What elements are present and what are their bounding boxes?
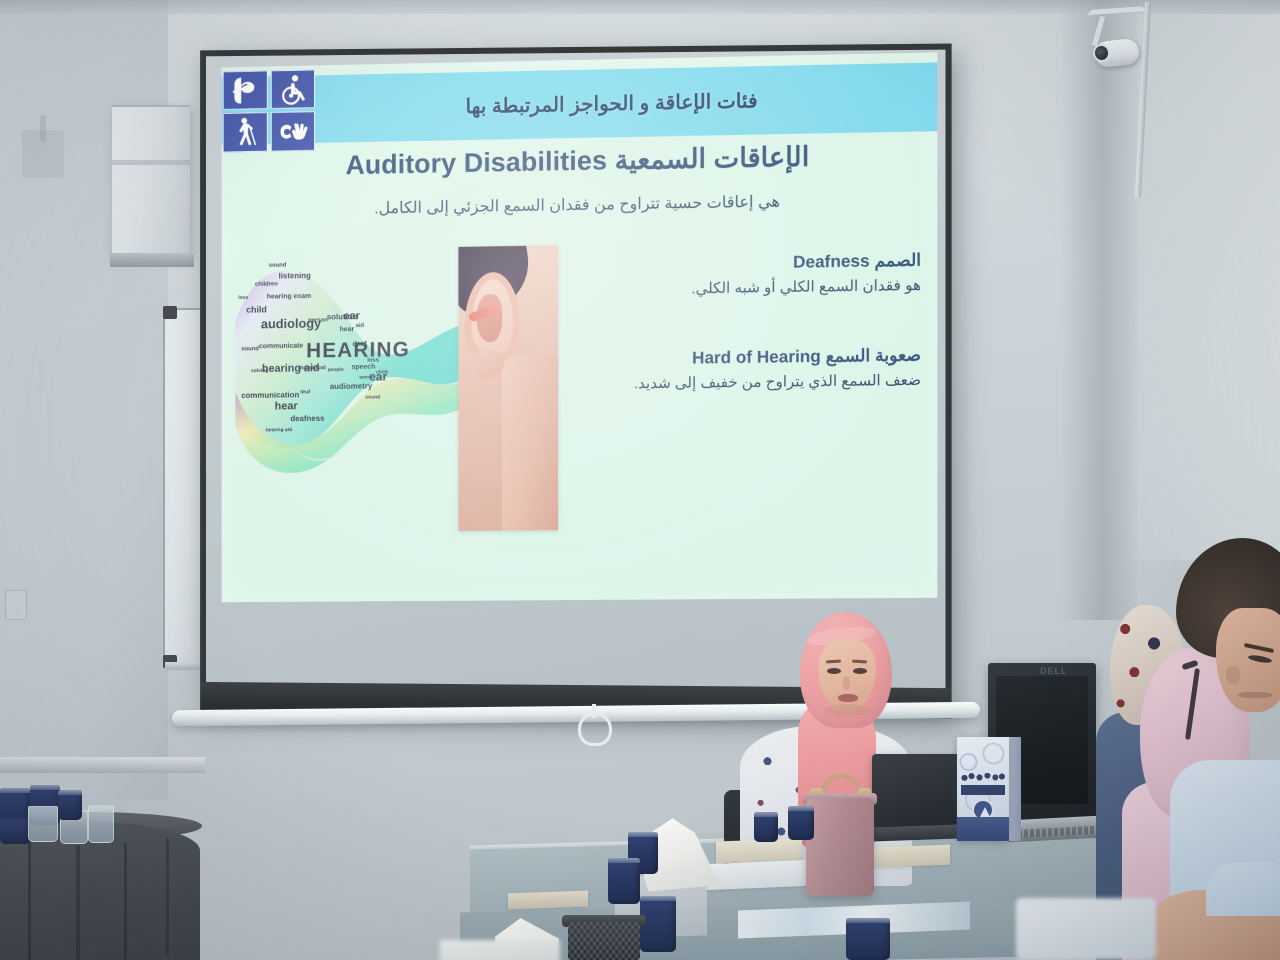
svg-text:aid: aid [355, 323, 364, 329]
svg-text:child: child [246, 304, 267, 314]
mesh-pen-holder [568, 922, 640, 960]
tablecloth-fold [166, 838, 169, 956]
svg-text:people: people [328, 367, 344, 373]
svg-text:listening: listening [279, 271, 311, 280]
term-english-label: Deafness [793, 251, 870, 271]
svg-text:solving: solving [251, 368, 268, 374]
attendee-4-sleeve [1206, 862, 1280, 916]
svg-text:sound: sound [241, 346, 259, 352]
foreground-paper-blur [440, 940, 560, 960]
cup-rim [640, 896, 676, 901]
svg-text:individual: individual [298, 365, 326, 371]
whiteboard [163, 308, 205, 666]
svg-text:deafness: deafness [290, 414, 325, 423]
wheelchair-accessibility-icon [270, 69, 315, 109]
neck [502, 355, 558, 530]
svg-text:sound: sound [365, 394, 380, 400]
hearing-word-cloud: HEARING audiology hearing aid ear ear li… [230, 248, 477, 500]
term-hard-of-hearing: صعوبة السمع Hard of Hearing ضعف السمع ال… [578, 345, 921, 392]
earlobe [474, 350, 504, 378]
svg-text:speech: speech [352, 364, 376, 371]
term-deafness: الصمم Deafness هو فقدان السمع الكلي أو ش… [588, 251, 921, 299]
nose [843, 676, 850, 690]
cup-rim [0, 788, 30, 793]
tablecloth-fold [76, 845, 80, 960]
baseboard [0, 757, 205, 773]
term-arabic-label: الصمم [874, 251, 921, 271]
laptop[interactable] [872, 754, 964, 830]
svg-text:child: child [376, 369, 388, 375]
pink-handbag [806, 798, 874, 896]
mouth [1238, 692, 1272, 698]
sign-language-icon [270, 112, 315, 152]
screen-pull-handle [578, 712, 612, 746]
term-label-row: الصمم Deafness [588, 251, 921, 276]
drinking-glass [28, 806, 58, 842]
svg-text:communication: communication [241, 390, 299, 400]
drinking-glass [88, 805, 114, 843]
svg-text:deaf: deaf [352, 341, 367, 348]
housing-shelf [110, 253, 194, 267]
housing-seam [112, 160, 190, 165]
cup-rim [58, 790, 82, 795]
paper-stack [508, 891, 588, 910]
wall-outlet [5, 590, 27, 620]
term-label-row: صعوبة السمع Hard of Hearing [578, 345, 921, 369]
svg-text:solution: solution [327, 312, 358, 321]
term-english-label: Hard of Hearing [692, 347, 821, 368]
cup-rim [608, 858, 640, 863]
monitor-brand-label: DELL [1040, 666, 1068, 676]
term-description: ضعف السمع الذي يتراوح من خفيف إلى شديد. [578, 371, 921, 393]
slide-subtitle: هي إعاقات حسية تتراوح من فقدان السمع الج… [222, 189, 938, 221]
nose [1226, 666, 1240, 684]
eye [853, 668, 867, 674]
presentation-slide: فئات الإعاقة و الحواجز المرتبطة بها الإع… [222, 52, 938, 602]
svg-text:loss: loss [238, 295, 248, 301]
slide-title: الإعاقات السمعية Auditory Disabilities [222, 139, 938, 183]
svg-text:hear: hear [340, 326, 355, 333]
blue-cup [58, 790, 82, 820]
svg-text:children: children [255, 281, 278, 287]
cup-rim [788, 806, 814, 811]
cup-rim [30, 785, 60, 790]
blue-cup [754, 812, 778, 842]
tablecloth-fold [28, 840, 31, 960]
cup-rim [754, 812, 778, 817]
whiteboard-bracket [163, 306, 177, 319]
svg-text:word: word [358, 375, 371, 381]
wall-corner-shadow [1060, 0, 1138, 620]
term-arabic-label: صعوبة السمع [826, 345, 921, 365]
slide-header-band: فئات الإعاقة و الحواجز المرتبطة بها [222, 62, 938, 144]
paper-stack [872, 845, 950, 868]
cup-rim [846, 918, 890, 923]
brochure-footer-band [957, 817, 1009, 841]
cup-rim [628, 832, 658, 837]
cognitive-disability-icon [223, 70, 268, 110]
term-description: هو فقدان السمع الكلي أو شبه الكلي. [588, 276, 921, 299]
blue-cup [0, 818, 30, 844]
paper-sheet [700, 860, 815, 891]
svg-text:deaf: deaf [300, 389, 310, 395]
right-wall-panel [1130, 0, 1280, 560]
ceiling-seam [0, 0, 1280, 14]
mouth [838, 694, 858, 702]
blue-cup [608, 858, 640, 904]
foreground-paper-blur [1016, 898, 1156, 960]
conference-room-scene: فئات الإعاقة و الحواجز المرتبطة بها الإع… [0, 0, 1280, 960]
blue-cup [846, 918, 890, 960]
eye [827, 668, 841, 674]
svg-text:hearing exam: hearing exam [267, 293, 311, 301]
svg-text:communicate: communicate [259, 343, 303, 351]
svg-text:hearing aid: hearing aid [266, 427, 292, 433]
svg-text:person: person [308, 317, 328, 323]
svg-text:hear: hear [275, 400, 299, 412]
projector-screen-housing [112, 105, 190, 255]
blue-cup [788, 806, 814, 840]
ear-close-up-photo [458, 245, 558, 531]
blind-cane-icon [223, 112, 268, 152]
standing-brochure [957, 737, 1009, 841]
slide-header-title: فئات الإعاقة و الحواجز المرتبطة بها [316, 84, 937, 121]
svg-text:sound: sound [269, 262, 287, 268]
disability-icon-grid [222, 68, 316, 147]
svg-text:audiometry: audiometry [330, 381, 373, 391]
chin-shadow [824, 704, 870, 716]
people-silhouettes [961, 773, 1005, 795]
tablecloth-fold [124, 843, 127, 960]
brochure-side-panel [1007, 737, 1021, 841]
wall-scuff [40, 115, 46, 141]
